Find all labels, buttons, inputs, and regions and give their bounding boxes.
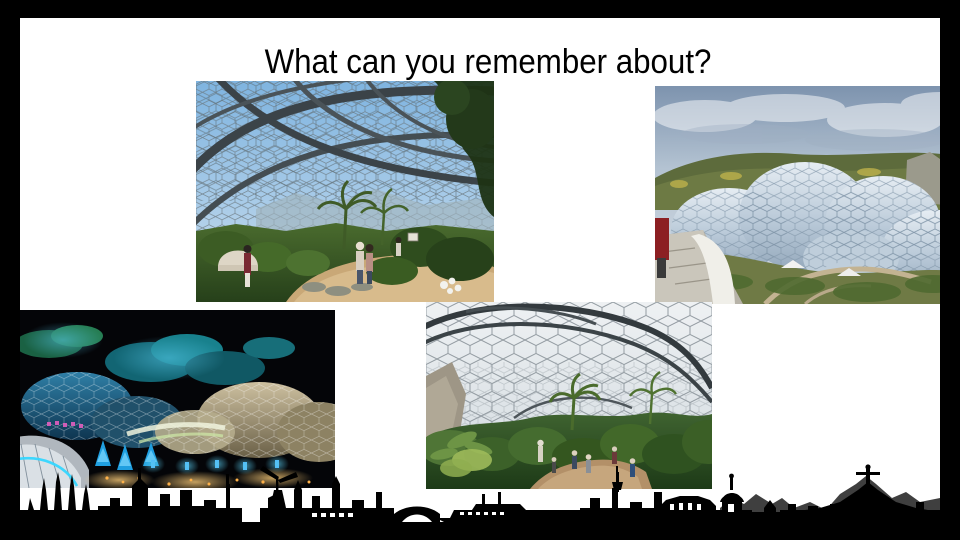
letterbox-left [0, 0, 20, 540]
photo-dome-interior [196, 81, 494, 302]
slide-root: What can you remember about? [0, 0, 960, 540]
world-skyline-illustration [20, 464, 940, 522]
photo-domes-exterior [655, 86, 940, 304]
domes-exterior-illustration [655, 86, 940, 304]
photo-domes-night [20, 310, 335, 488]
skyline-front-layer [20, 464, 940, 522]
rainforest-biome-illustration [426, 302, 712, 489]
domes-night-illustration [20, 310, 335, 488]
letterbox-right [940, 0, 960, 540]
page-title: What can you remember about? [212, 42, 764, 82]
letterbox-bottom [0, 522, 960, 540]
slide-canvas: What can you remember about? [20, 18, 940, 522]
photo-rainforest-biome [426, 302, 712, 489]
skyline-silhouette-band [20, 464, 940, 522]
dome-interior-illustration [196, 81, 494, 302]
letterbox-top [0, 0, 960, 18]
